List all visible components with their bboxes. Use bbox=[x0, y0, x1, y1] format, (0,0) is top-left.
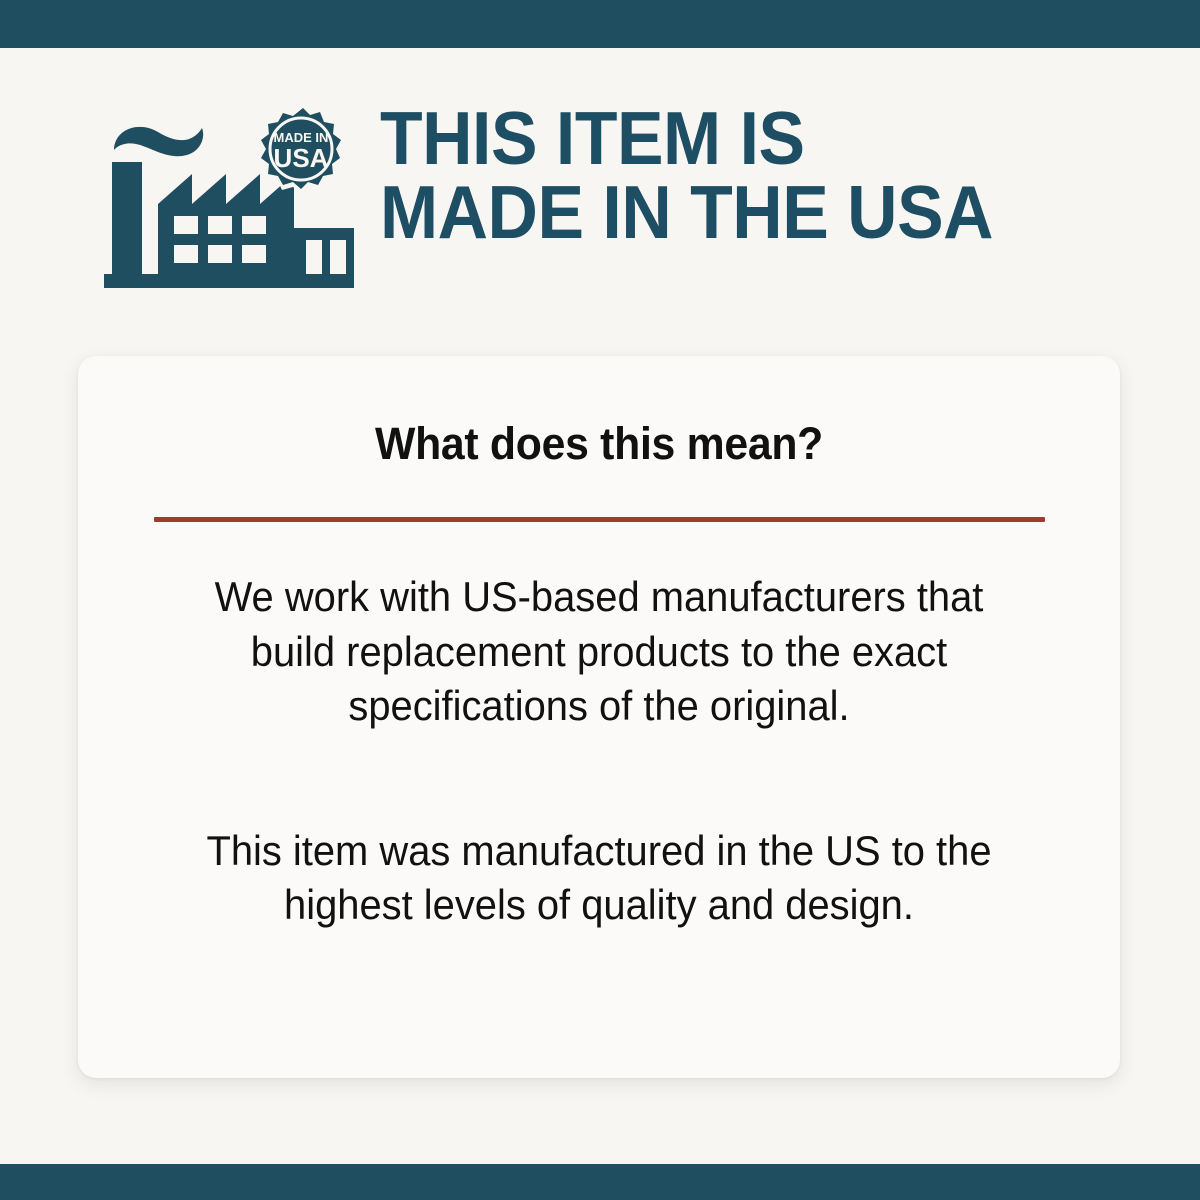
badge-line-2: USA bbox=[274, 143, 329, 173]
header: MADE IN USA THIS ITEM IS MADE IN THE USA bbox=[0, 100, 1200, 300]
card-paragraph-2: This item was manufactured in the US to … bbox=[172, 734, 1027, 933]
made-in-usa-badge-icon: MADE IN USA bbox=[258, 104, 346, 194]
headline-line-1: THIS ITEM IS bbox=[380, 102, 993, 176]
page-title: THIS ITEM IS MADE IN THE USA bbox=[380, 102, 993, 249]
content-area: MADE IN USA THIS ITEM IS MADE IN THE USA… bbox=[0, 48, 1200, 1164]
factory-icon: MADE IN USA bbox=[96, 100, 358, 290]
factory-base-shape bbox=[104, 274, 354, 288]
smoke-plume-shape bbox=[114, 127, 203, 156]
card-paragraph-1: We work with US-based manufacturers that… bbox=[172, 522, 1027, 734]
factory-badge-graphic: MADE IN USA bbox=[96, 100, 358, 290]
chimney-shape bbox=[112, 162, 142, 274]
explanation-card: What does this mean? We work with US-bas… bbox=[78, 356, 1120, 1078]
card-title: What does this mean? bbox=[104, 356, 1094, 470]
headline-line-2: MADE IN THE USA bbox=[380, 176, 993, 250]
top-accent-band bbox=[0, 0, 1200, 48]
bottom-accent-band bbox=[0, 1164, 1200, 1200]
made-in-usa-infographic: MADE IN USA THIS ITEM IS MADE IN THE USA… bbox=[0, 0, 1200, 1200]
